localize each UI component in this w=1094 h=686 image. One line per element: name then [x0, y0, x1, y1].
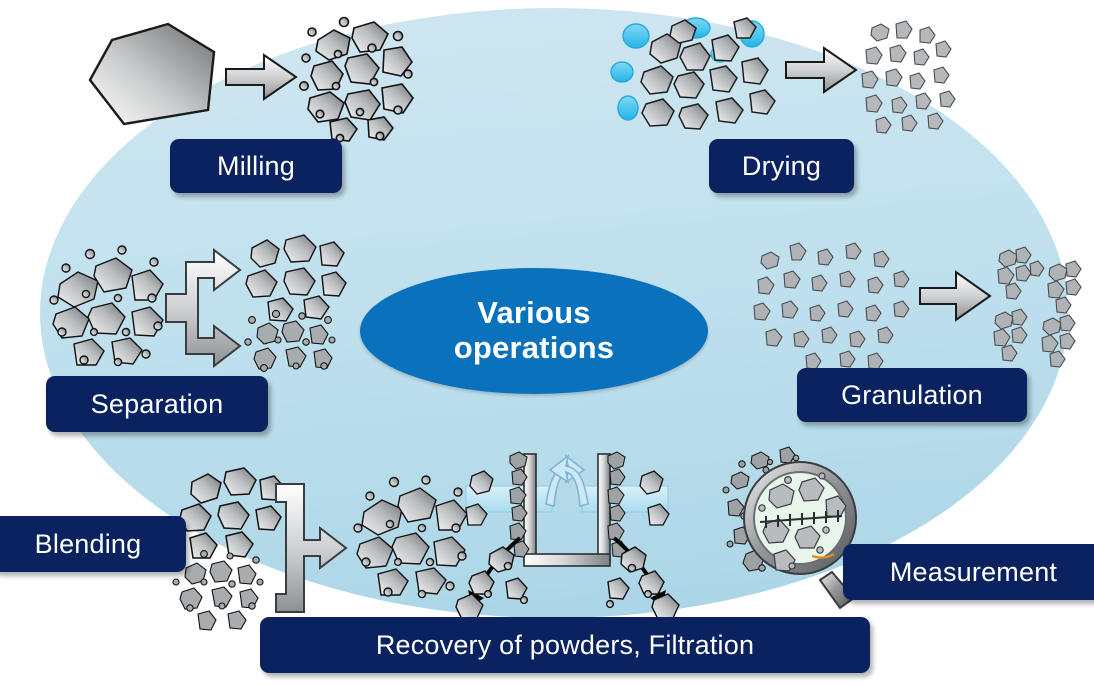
merging-arrow-icon: [276, 484, 346, 612]
label-drying[interactable]: Drying: [709, 139, 854, 193]
label-milling[interactable]: Milling: [170, 139, 342, 193]
coarse-input-particles-icon: [180, 468, 284, 558]
mixed-particle-cluster-icon: [50, 246, 163, 366]
granule-agglomerates-icon: [994, 247, 1081, 367]
liquid-flow-arrow-icon: [546, 456, 588, 506]
label-blending[interactable]: Blending: [0, 516, 186, 572]
separation-illustration: [48, 232, 338, 372]
dispersed-fine-particles-icon: [754, 243, 909, 369]
process-arrow-icon: [786, 48, 856, 92]
discharge-arrowhead-icon: [468, 590, 666, 606]
granulation-illustration: [748, 234, 1058, 364]
drying-illustration: [600, 14, 950, 134]
label-separation[interactable]: Separation: [46, 376, 268, 432]
milling-illustration: [68, 14, 408, 144]
diagram-canvas: Various operations Milling Drying Separa…: [0, 0, 1094, 686]
label-recovery-filtration[interactable]: Recovery of powders, Filtration: [260, 617, 870, 673]
center-ellipse-label: Various operations: [454, 296, 614, 365]
fine-input-particles-icon: [173, 551, 263, 630]
process-arrow-icon: [226, 55, 296, 99]
blended-mixture-icon: [354, 476, 467, 598]
filtration-illustration: [452, 442, 682, 632]
label-granulation[interactable]: Granulation: [797, 368, 1027, 422]
splitting-arrow-icon: [166, 250, 240, 366]
label-measurement[interactable]: Measurement: [843, 544, 1094, 600]
process-arrow-icon: [920, 272, 990, 320]
fragment-cluster-icon: [300, 18, 413, 142]
center-ellipse: Various operations: [360, 268, 708, 394]
large-particle-icon: [90, 24, 214, 124]
blending-illustration: [176, 466, 486, 626]
magnifier-lens-icon: [744, 462, 856, 574]
dry-particle-cluster-icon: [862, 21, 955, 133]
filter-liquid-band-icon: [466, 486, 668, 512]
coarse-fraction-icon: [246, 235, 346, 321]
